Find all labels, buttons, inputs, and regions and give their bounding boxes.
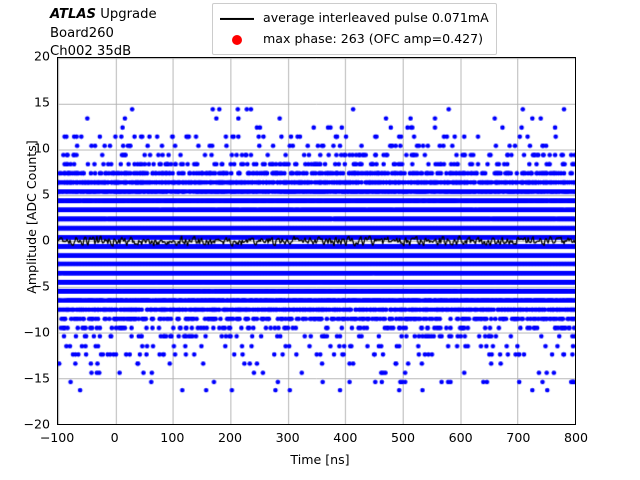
legend-label-average-pulse: average interleaved pulse 0.071mA [263, 12, 489, 25]
x-tick-label: 100 [160, 432, 184, 445]
x-tick-label: 700 [506, 432, 530, 445]
x-tick-label: 500 [391, 432, 415, 445]
atlas-label: ATLAS [50, 7, 96, 22]
scatter-plot-canvas [58, 58, 575, 424]
annotation-line-3: Ch002 35dB [50, 43, 157, 62]
legend-entry-average-pulse[interactable]: average interleaved pulse 0.071mA [219, 8, 489, 29]
legend-dot-handle-icon [219, 32, 255, 48]
chart-legend[interactable]: average interleaved pulse 0.071mA max ph… [212, 3, 497, 55]
atlas-annotation: ATLAS Upgrade Board260 Ch002 35dB [50, 6, 157, 62]
x-tick-label: 800 [564, 432, 588, 445]
x-tick-label: 0 [111, 432, 119, 445]
legend-entry-max-phase[interactable]: max phase: 263 (OFC amp=0.427) [219, 29, 489, 50]
x-tick-label: 300 [276, 432, 300, 445]
annotation-line-1: ATLAS Upgrade [50, 6, 157, 25]
upgrade-label: Upgrade [96, 7, 157, 22]
x-tick-label: 600 [449, 432, 473, 445]
y-axis-title-wrap: Amplitude [ADC Counts] [21, 17, 41, 417]
x-tick-label: 200 [218, 432, 242, 445]
plot-axes-area [57, 57, 576, 425]
legend-line-handle-icon [219, 11, 255, 27]
figure-canvas: −20−15−10−505101520 −1000100200300400500… [0, 0, 640, 480]
x-axis-tick-labels: −1000100200300400500600700800 [0, 432, 640, 452]
legend-label-max-phase: max phase: 263 (OFC amp=0.427) [263, 33, 483, 46]
x-axis-title: Time [ns] [0, 454, 640, 467]
x-tick-label: −100 [40, 432, 75, 445]
annotation-line-2: Board260 [50, 25, 157, 44]
x-tick-label: 400 [333, 432, 357, 445]
y-axis-title: Amplitude [ADC Counts] [24, 140, 39, 293]
